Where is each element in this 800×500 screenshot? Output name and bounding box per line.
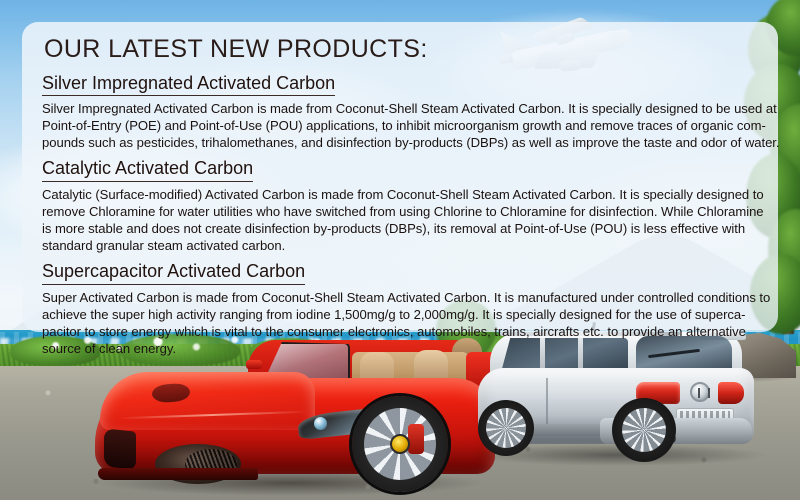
alloy-rim: [486, 408, 526, 448]
body-line: is more stable and does not create disin…: [42, 220, 766, 237]
product-section-supercapacitor: Supercapacitor Activated Carbon Super Ac…: [42, 261, 766, 357]
body-line: achieve the super high activity ranging …: [42, 306, 766, 323]
section-heading: Catalytic Activated Carbon: [42, 158, 253, 182]
body-line: Super Activated Carbon is made from Coco…: [42, 289, 766, 306]
body-line: Catalytic (Surface-modified) Activated C…: [42, 186, 766, 203]
alloy-rim: [622, 408, 666, 452]
wheel-hub: [390, 434, 410, 454]
body-line: remove Chloramine for water utilities wh…: [42, 203, 766, 220]
body-line: source of clean energy.: [42, 340, 766, 357]
brake-caliper: [408, 424, 424, 454]
body-line: pacitor to store energy which is vital t…: [42, 323, 766, 340]
page-title: OUR LATEST NEW PRODUCTS:: [44, 35, 766, 64]
body-line: Point-of-Entry (POE) and Point-of-Use (P…: [42, 117, 766, 134]
body-line: Silver Impregnated Activated Carbon is m…: [42, 100, 766, 117]
section-body: Super Activated Carbon is made from Coco…: [42, 289, 766, 357]
section-body: Silver Impregnated Activated Carbon is m…: [42, 100, 766, 151]
side-mirror: [246, 360, 262, 369]
section-body: Catalytic (Surface-modified) Activated C…: [42, 186, 766, 254]
taillight: [718, 382, 744, 404]
headlight-lens: [314, 417, 327, 430]
body-line: standard granular steam activated carbon…: [42, 237, 766, 254]
product-section-silver-impregnated: Silver Impregnated Activated Carbon Silv…: [42, 73, 766, 152]
promo-banner: OUR LATEST NEW PRODUCTS: Silver Impregna…: [0, 0, 800, 500]
section-heading: Silver Impregnated Activated Carbon: [42, 73, 335, 97]
body-line: pounds such as pesticides, trihalomethan…: [42, 134, 766, 151]
section-heading: Supercapacitor Activated Carbon: [42, 261, 305, 285]
vw-logo-icon: [690, 382, 710, 402]
car-hood: [100, 372, 315, 430]
door-seam: [546, 378, 548, 430]
front-splitter: [98, 468, 258, 480]
product-section-catalytic: Catalytic Activated Carbon Catalytic (Su…: [42, 158, 766, 254]
content-panel: OUR LATEST NEW PRODUCTS: Silver Impregna…: [22, 22, 778, 332]
front-air-intake: [104, 428, 136, 469]
